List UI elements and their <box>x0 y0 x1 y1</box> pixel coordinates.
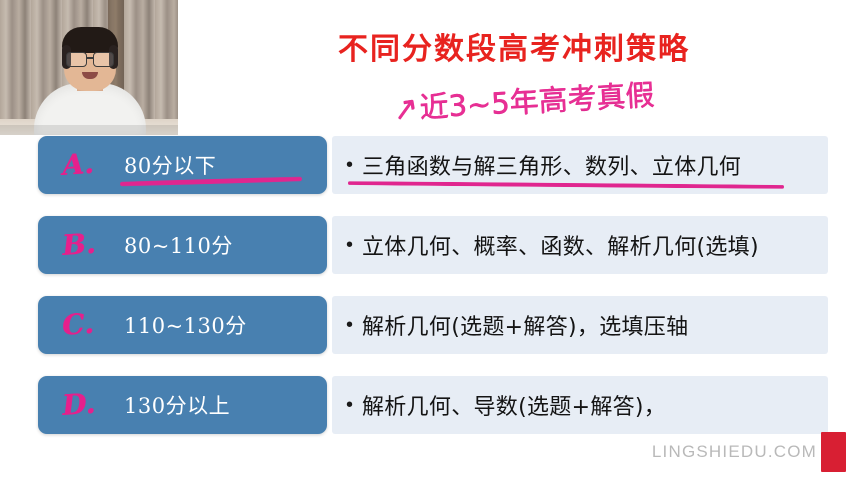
score-band-detail-b: 立体几何、概率、函数、解析几何(选填) <box>362 229 759 261</box>
score-band-detail-d: 解析几何、导数(选题+解答)， <box>362 389 666 421</box>
score-band-range-c: 110~130分 <box>124 310 247 340</box>
score-band-detail-panel-a[interactable]: • 三角函数与解三角形、数列、立体几何 <box>332 136 828 194</box>
glasses-icon <box>65 52 115 65</box>
score-band-box-c[interactable]: C. 110~130分 <box>38 296 327 354</box>
score-band-row: B. 80~110分 • 立体几何、概率、函数、解析几何(选填) <box>38 216 828 274</box>
score-band-range-d: 130分以上 <box>124 390 230 420</box>
score-band-box-d[interactable]: D. 130分以上 <box>38 376 327 434</box>
handwritten-underline-a-right <box>348 181 784 189</box>
handwritten-annotation-text: 近3~5年高考真假 <box>418 77 655 124</box>
score-band-letter-d: D. <box>61 387 96 422</box>
bullet-icon: • <box>346 395 353 415</box>
score-band-letter-b: B. <box>61 227 97 262</box>
watermark-accent-block <box>821 432 846 472</box>
webcam-video-overlay[interactable] <box>0 0 178 135</box>
score-band-row: C. 110~130分 • 解析几何(选题+解答)，选填压轴 <box>38 296 828 354</box>
bullet-icon: • <box>346 235 353 255</box>
score-band-detail-panel-d[interactable]: • 解析几何、导数(选题+解答)， <box>332 376 828 434</box>
score-band-row: D. 130分以上 • 解析几何、导数(选题+解答)， <box>38 376 828 434</box>
bullet-icon: • <box>346 315 353 335</box>
score-band-range-b: 80~110分 <box>124 230 233 260</box>
webcam-bottom-shadow <box>0 125 178 135</box>
glasses-lens-right <box>93 52 114 67</box>
handwritten-arrow-icon: ↗ <box>390 89 421 128</box>
score-band-box-a[interactable]: A. 80分以下 <box>38 136 327 194</box>
slide-title: 不同分数段高考冲刺策略 <box>178 24 850 68</box>
bullet-icon: • <box>346 155 353 175</box>
score-band-detail-a: 三角函数与解三角形、数列、立体几何 <box>362 149 741 181</box>
score-band-range-a: 80分以下 <box>124 150 216 180</box>
glasses-bridge <box>86 57 94 59</box>
presenter-figure <box>34 39 146 135</box>
score-band-detail-panel-c[interactable]: • 解析几何(选题+解答)，选填压轴 <box>332 296 828 354</box>
score-band-detail-panel-b[interactable]: • 立体几何、概率、函数、解析几何(选填) <box>332 216 828 274</box>
score-band-detail-c: 解析几何(选题+解答)，选填压轴 <box>362 309 688 341</box>
watermark-text: LINGSHIEDU.COM <box>652 442 817 462</box>
handwritten-annotation: ↗近3~5年高考真假 <box>392 71 655 128</box>
score-band-letter-a: A. <box>61 147 95 182</box>
score-band-letter-c: C. <box>61 307 95 342</box>
score-band-box-b[interactable]: B. 80~110分 <box>38 216 327 274</box>
glasses-lens-left <box>66 52 87 67</box>
slide-canvas: 不同分数段高考冲刺策略 ↗近3~5年高考真假 A. 80分以下 • 三角函数与解… <box>0 0 850 478</box>
score-band-row: A. 80分以下 • 三角函数与解三角形、数列、立体几何 <box>38 136 828 194</box>
